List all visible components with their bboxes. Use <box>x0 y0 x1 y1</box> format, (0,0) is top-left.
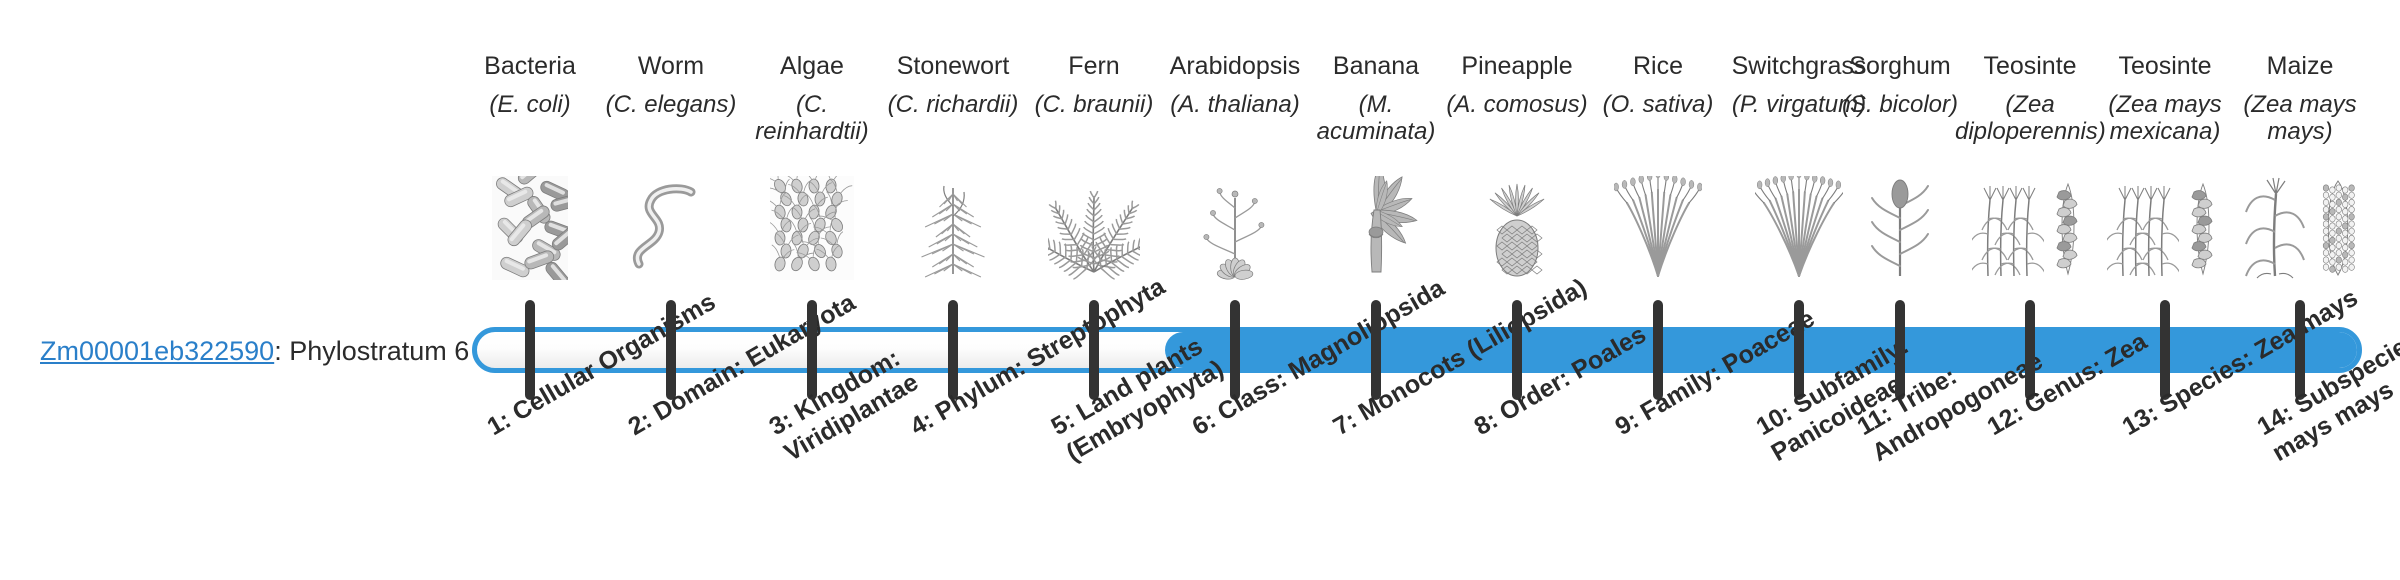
phylostratum-rank-label-8: 8: Order: Poales <box>1469 266 1744 442</box>
phylostratum-diagram: Zm00001eb322590: Phylostratum 6 Bacteria… <box>0 0 2400 580</box>
phylostratum-tick-list: 1: Cellular Organisms2: Domain: Eukaryot… <box>0 0 2400 580</box>
phylostratum-rank-label-7: 7: Monocots (Liliopsida) <box>1328 266 1603 442</box>
phylostratum-rank-label-1: 1: Cellular Organisms <box>482 266 757 442</box>
